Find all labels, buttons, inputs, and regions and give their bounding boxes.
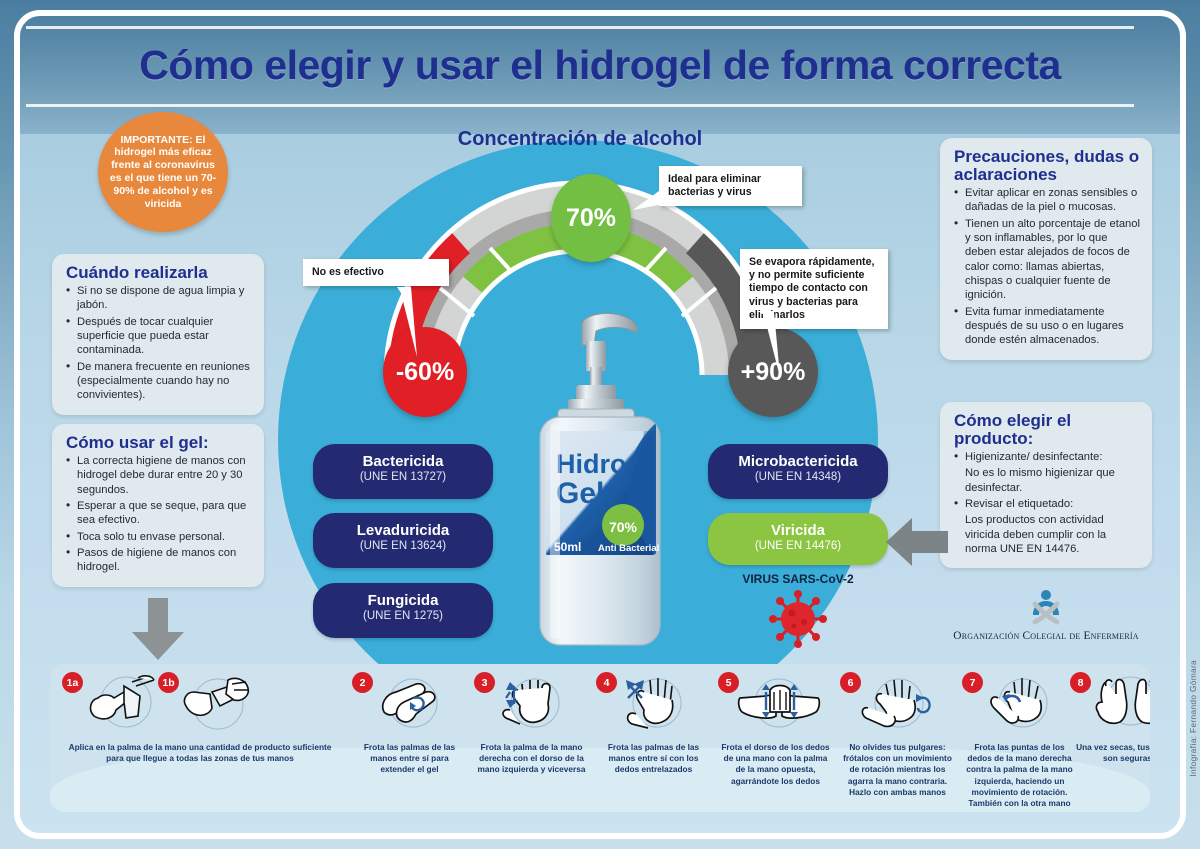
step-7: 7 Frota las puntas de los dedos de la ma… bbox=[962, 670, 1077, 810]
pill-levaduricida: Levaduricida (UNE EN 13624) bbox=[313, 513, 493, 568]
list-item: De manera frecuente en reuniones (especi… bbox=[66, 360, 252, 403]
card-elegir-heading: Cómo elegir el producto: bbox=[954, 412, 1140, 448]
list-item: La correcta higiene de manos con hidroge… bbox=[66, 454, 252, 497]
importante-badge: IMPORTANTE: El hidrogel más eficaz frent… bbox=[98, 112, 228, 232]
hidrogel-bottle: Hidro Gel 70% 50ml Anti Bacterial bbox=[524, 305, 676, 655]
step-1a-illustration bbox=[80, 672, 166, 734]
step-5-caption: Frota el dorso de los dedos de una mano … bbox=[718, 742, 833, 787]
pill-viricida: Viricida (UNE EN 14476) bbox=[708, 513, 888, 565]
step-3: 3 Frota la palma de la mano derecha con … bbox=[474, 670, 589, 810]
gauge-value-70: 70% bbox=[551, 174, 631, 262]
coronavirus-icon bbox=[762, 588, 834, 650]
pill-microbactericida: Microbactericida (UNE EN 14348) bbox=[708, 444, 888, 499]
step-2-caption: Frota las palmas de las manos entre sí p… bbox=[352, 742, 467, 776]
callout-ideal-text: Ideal para eliminar bacterias y virus bbox=[668, 173, 761, 198]
pill-viricida-name: Viricida bbox=[708, 523, 888, 539]
coronavirus-svg bbox=[762, 588, 834, 650]
importante-text: IMPORTANTE: El hidrogel más eficaz frent… bbox=[98, 134, 228, 211]
list-item: Esperar a que se seque, para que sea efe… bbox=[66, 499, 252, 528]
pill-viricida-code: (UNE EN 14476) bbox=[708, 540, 888, 552]
pill-bactericida-code: (UNE EN 13727) bbox=[313, 471, 493, 483]
step-5: 5 Frota el dorso de los dedos de una man… bbox=[718, 670, 833, 810]
virus-label: VIRUS SARS-CoV-2 bbox=[708, 572, 888, 586]
pill-fungicida: Fungicida (UNE EN 1275) bbox=[313, 583, 493, 638]
step-4: 4 Frota las palmas de las manos entre sí… bbox=[596, 670, 711, 810]
pill-bactericida: Bactericida (UNE EN 13727) bbox=[313, 444, 493, 499]
infographic-poster: Cómo elegir y usar el hidrogel de forma … bbox=[0, 0, 1200, 849]
step-6-illustration bbox=[858, 672, 944, 734]
svg-text:70%: 70% bbox=[609, 519, 638, 535]
credit-text: Infografía: Fernando Gómara bbox=[1188, 660, 1198, 777]
bottle-svg: Hidro Gel 70% 50ml Anti Bacterial bbox=[524, 305, 676, 655]
callout-not-effective-text: No es efectivo bbox=[312, 266, 384, 278]
pill-levaduricida-code: (UNE EN 13624) bbox=[313, 540, 493, 552]
pill-levaduricida-name: Levaduricida bbox=[313, 523, 493, 539]
callout-tail-right bbox=[758, 311, 792, 381]
gauge-value-60-label: -60% bbox=[396, 358, 454, 387]
pill-fungicida-code: (UNE EN 1275) bbox=[313, 610, 493, 622]
list-item: No es lo mismo higienizar que desinfecta… bbox=[954, 466, 1140, 495]
step-1b-illustration bbox=[176, 672, 262, 734]
list-item: Los productos con actividad viricida deb… bbox=[954, 513, 1140, 556]
list-item: Evita fumar inmediatamente después de su… bbox=[954, 305, 1140, 348]
step-8-caption: Una vez secas, tus manos son seguras bbox=[1070, 742, 1150, 764]
list-item: Después de tocar cualquier superficie qu… bbox=[66, 315, 252, 358]
arrow-down-icon bbox=[128, 598, 188, 660]
pill-microbactericida-name: Microbactericida bbox=[708, 454, 888, 470]
list-item: Si no se dispone de agua limpia y jabón. bbox=[66, 284, 252, 313]
card-como-usar-el-gel: Cómo usar el gel: La correcta higiene de… bbox=[52, 424, 264, 587]
list-item: Tienen un alto porcentaje de etanol y so… bbox=[954, 217, 1140, 303]
gauge-heading: Concentración de alcohol bbox=[430, 128, 730, 151]
enfermeria-logo-icon bbox=[1026, 588, 1066, 628]
step-2-illustration bbox=[370, 672, 456, 734]
page-title: Cómo elegir y usar el hidrogel de forma … bbox=[0, 42, 1200, 89]
callout-not-effective: No es efectivo bbox=[303, 259, 449, 286]
callout-tail-top bbox=[633, 188, 663, 218]
callout-ideal: Ideal para eliminar bacterias y virus bbox=[659, 166, 802, 206]
list-item: Toca solo tu envase personal. bbox=[66, 530, 252, 544]
card-cuando-list: Si no se dispone de agua limpia y jabón.… bbox=[66, 284, 252, 403]
card-precauciones: Precauciones, dudas o aclaraciones Evita… bbox=[940, 138, 1152, 360]
step-6: 6 No olvides tus pulgares: frótalos con … bbox=[840, 670, 955, 810]
pill-bactericida-name: Bactericida bbox=[313, 454, 493, 470]
divider-bottom bbox=[26, 104, 1134, 107]
svg-text:Hidro: Hidro bbox=[556, 449, 627, 479]
divider-top bbox=[26, 26, 1134, 29]
step-6-caption: No olvides tus pulgares: frótalos con un… bbox=[840, 742, 955, 798]
organization-logo: Organización Colegial de Enfermería bbox=[940, 588, 1152, 642]
card-comousar-heading: Cómo usar el gel: bbox=[66, 434, 252, 452]
card-elegir-list: Higienizante/ desinfectante: No es lo mi… bbox=[954, 450, 1140, 556]
gauge-value-70-label: 70% bbox=[566, 204, 616, 233]
step-3-illustration bbox=[492, 672, 578, 734]
step-7-caption: Frota las puntas de los dedos de la mano… bbox=[962, 742, 1077, 809]
step-4-illustration bbox=[614, 672, 700, 734]
step-7-illustration bbox=[980, 672, 1066, 734]
svg-text:Gel: Gel bbox=[556, 477, 604, 510]
arrow-left-icon bbox=[886, 518, 948, 566]
list-item: Pasos de higiene de manos con hidrogel. bbox=[66, 546, 252, 575]
list-item: Evitar aplicar en zonas sensibles o daña… bbox=[954, 186, 1140, 215]
callout-evaporates: Se evapora rápidamente, y no permite suf… bbox=[740, 249, 888, 329]
step-1-caption: Aplica en la palma de la mano una cantid… bbox=[62, 742, 338, 764]
card-precauciones-heading: Precauciones, dudas o aclaraciones bbox=[954, 148, 1140, 184]
step-2: 2 Frota las palmas de las manos entre sí… bbox=[352, 670, 467, 810]
card-cuando-heading: Cuándo realizarla bbox=[66, 264, 252, 282]
handwashing-steps-panel: 1a 1b bbox=[50, 664, 1150, 812]
list-item: Revisar el etiquetado: bbox=[954, 497, 1140, 511]
card-precauciones-list: Evitar aplicar en zonas sensibles o daña… bbox=[954, 186, 1140, 348]
step-5-illustration bbox=[736, 672, 822, 734]
callout-tail-left bbox=[397, 287, 429, 361]
card-cuando-realizarla: Cuándo realizarla Si no se dispone de ag… bbox=[52, 254, 264, 415]
pill-fungicida-name: Fungicida bbox=[313, 593, 493, 609]
svg-text:Anti Bacterial: Anti Bacterial bbox=[598, 543, 659, 554]
list-item: Higienizante/ desinfectante: bbox=[954, 450, 1140, 464]
step-8: 8 Una vez secas, tus manos son seguras bbox=[1070, 670, 1150, 810]
step-1b: 1b Aplica en la palma de la mano una can… bbox=[158, 670, 336, 810]
card-como-elegir-producto: Cómo elegir el producto: Higienizante/ d… bbox=[940, 402, 1152, 568]
card-comousar-list: La correcta higiene de manos con hidroge… bbox=[66, 454, 252, 575]
pill-microbactericida-code: (UNE EN 14348) bbox=[708, 471, 888, 483]
logo-text: Organización Colegial de Enfermería bbox=[940, 630, 1152, 642]
step-3-caption: Frota la palma de la mano derecha con el… bbox=[474, 742, 589, 776]
step-8-illustration bbox=[1088, 672, 1150, 734]
step-4-caption: Frota las palmas de las manos entre sí c… bbox=[596, 742, 711, 776]
